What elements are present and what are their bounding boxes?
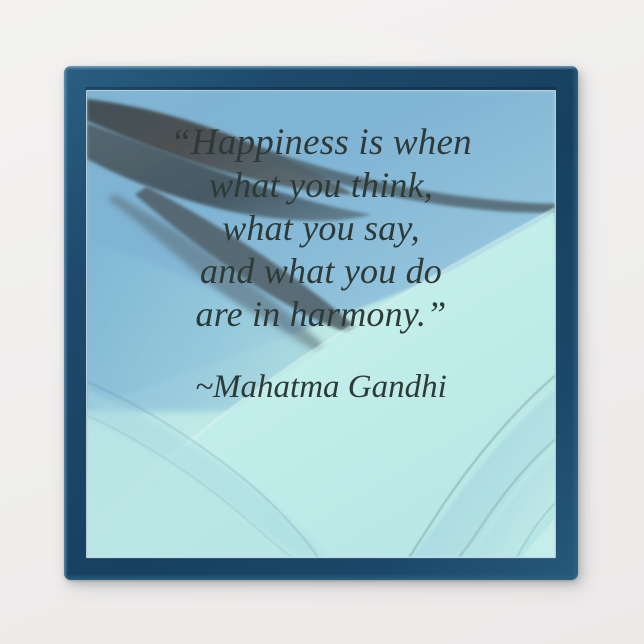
abstract-fractal-artwork: [87, 91, 555, 557]
product-preview: “Happiness is when what you think, what …: [0, 0, 644, 644]
picture-frame[interactable]: “Happiness is when what you think, what …: [64, 66, 578, 580]
frame-bevel-left: [64, 66, 68, 580]
artwork-canvas: “Happiness is when what you think, what …: [87, 91, 555, 557]
frame-bevel-bottom: [64, 574, 578, 580]
frame-bevel-right: [572, 66, 578, 580]
frame-bevel-top: [64, 66, 578, 70]
frame-mat-line: “Happiness is when what you think, what …: [86, 90, 556, 558]
